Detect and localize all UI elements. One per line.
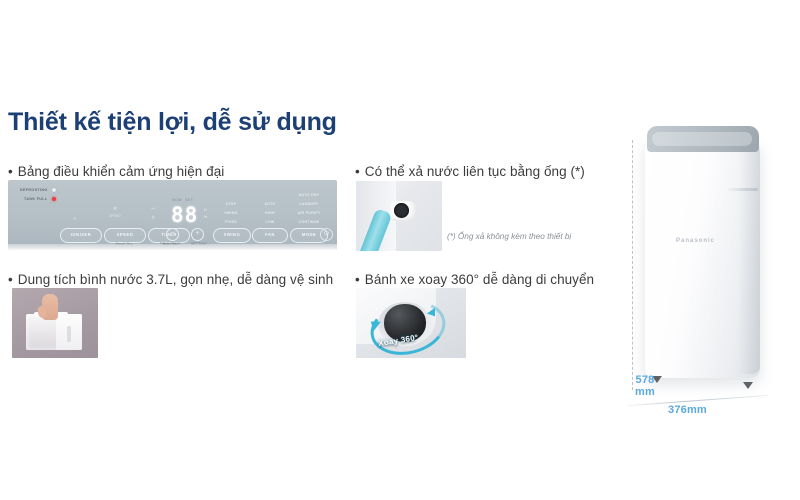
button-swing[interactable]: SWING xyxy=(213,228,251,243)
option-swing-fixed: FIXED xyxy=(214,220,248,224)
display-unit-hour: H xyxy=(204,206,208,213)
feature-bullet-continuous-drain: •Có thể xả nước liên tục bằng ống (*) xyxy=(355,164,585,179)
tank-full-led-icon xyxy=(52,197,56,201)
indicator-defrosting-label: DEFROSTING xyxy=(20,188,48,192)
speed-sub-icon: SPEED xyxy=(98,214,132,218)
width-dimension-label: 376mm xyxy=(668,404,707,416)
digital-display: NOW SET 88 H % xyxy=(171,205,198,226)
dehumidifier-top-grille xyxy=(652,132,752,146)
button-fan[interactable]: FAN xyxy=(252,228,288,243)
option-swing-swing: SWING xyxy=(214,211,248,215)
bullet-marker-icon: • xyxy=(8,272,13,287)
defrosting-led-icon xyxy=(52,188,56,192)
page-title: Thiết kế tiện lợi, dễ sử dụng xyxy=(8,108,337,137)
feature-text-continuous-drain: Có thể xả nước liên tục bằng ống (*) xyxy=(365,164,585,179)
lock-icon: ⊸ xyxy=(136,206,170,212)
display-value: 88 xyxy=(171,205,198,226)
feature-text-control-panel: Bảng điều khiển cảm ứng hiện đại xyxy=(18,164,225,179)
option-fan-low: LOW xyxy=(253,220,287,224)
option-mode-continue: CONTINUE xyxy=(289,220,329,224)
product-photo: Panasonic 578 mm 376mm xyxy=(600,110,800,400)
display-unit-percent: % xyxy=(204,213,208,220)
fan-icon: ✲ xyxy=(98,206,132,212)
stepper-caption-setting: SETTING xyxy=(183,242,215,246)
button-decrease[interactable]: − xyxy=(166,228,179,241)
height-dimension-value: 578 xyxy=(635,374,655,386)
indicator-tank-full-label: TANK FULL xyxy=(24,197,48,201)
brand-logo: Panasonic xyxy=(676,238,715,244)
bullet-marker-icon: • xyxy=(355,272,360,287)
caster-wheel-photo: Xoay 360° xyxy=(356,288,466,358)
button-increase[interactable]: + xyxy=(191,228,204,241)
button-speed-caption: Smart Dry xyxy=(104,242,144,246)
display-units: H % xyxy=(204,206,208,220)
tank-grip-slot xyxy=(67,326,71,342)
bullet-marker-icon: • xyxy=(355,164,360,179)
hose-opening xyxy=(394,203,409,218)
display-label-set: SET xyxy=(185,198,193,202)
display-labels: NOW SET xyxy=(172,198,194,202)
display-label-now: NOW xyxy=(172,198,182,202)
ionizer-icon: ✧ xyxy=(58,216,92,222)
option-fan-auto: AUTO xyxy=(253,202,287,206)
water-tank-photo xyxy=(12,288,98,358)
feature-text-water-tank: Dung tích bình nước 3.7L, gọn nhẹ, dễ dà… xyxy=(18,272,333,287)
indicator-tank-full: TANK FULL xyxy=(24,197,56,201)
option-fan-high: HIGH xyxy=(253,211,287,215)
button-ionizer[interactable]: IONIZER xyxy=(60,228,102,243)
feature-bullet-caster-wheels: •Bánh xe xoay 360° dễ dàng di chuyển xyxy=(355,272,594,287)
side-vent xyxy=(728,188,758,191)
option-mode-autodry: AUTO DRY xyxy=(289,193,329,197)
power-icon[interactable]: ⏻ xyxy=(320,228,333,241)
feature-bullet-control-panel: •Bảng điều khiển cảm ứng hiện đại xyxy=(8,164,224,179)
drain-hose-photo xyxy=(356,181,442,251)
height-dimension-line xyxy=(632,140,634,390)
button-speed[interactable]: SPEED xyxy=(104,228,146,243)
option-swing-stop: STOP xyxy=(214,202,248,206)
body-shading xyxy=(738,144,760,374)
height-dimension-label: 578 mm xyxy=(635,374,655,398)
infographic-canvas: Thiết kế tiện lợi, dễ sử dụng •Bảng điều… xyxy=(0,0,800,500)
height-dimension-unit: mm xyxy=(635,386,655,398)
option-mode-airpurify: AIR PURIFY xyxy=(289,211,329,215)
product-caster-rear xyxy=(743,382,753,389)
feature-text-caster-wheels: Bánh xe xoay 360° dễ dàng di chuyển xyxy=(365,272,594,287)
control-panel-photo: DEFROSTING TANK FULL ✧ ✲ SPEED ⊸ ⏱ IONIZ… xyxy=(8,180,337,250)
timer-sub-icon: ⏱ xyxy=(136,215,170,220)
option-mode-laundry: LAUNDRY xyxy=(289,202,329,206)
feature-bullet-water-tank: •Dung tích bình nước 3.7L, gọn nhẹ, dễ d… xyxy=(8,272,333,287)
indicator-defrosting: DEFROSTING xyxy=(20,188,56,192)
bullet-marker-icon: • xyxy=(8,164,13,179)
